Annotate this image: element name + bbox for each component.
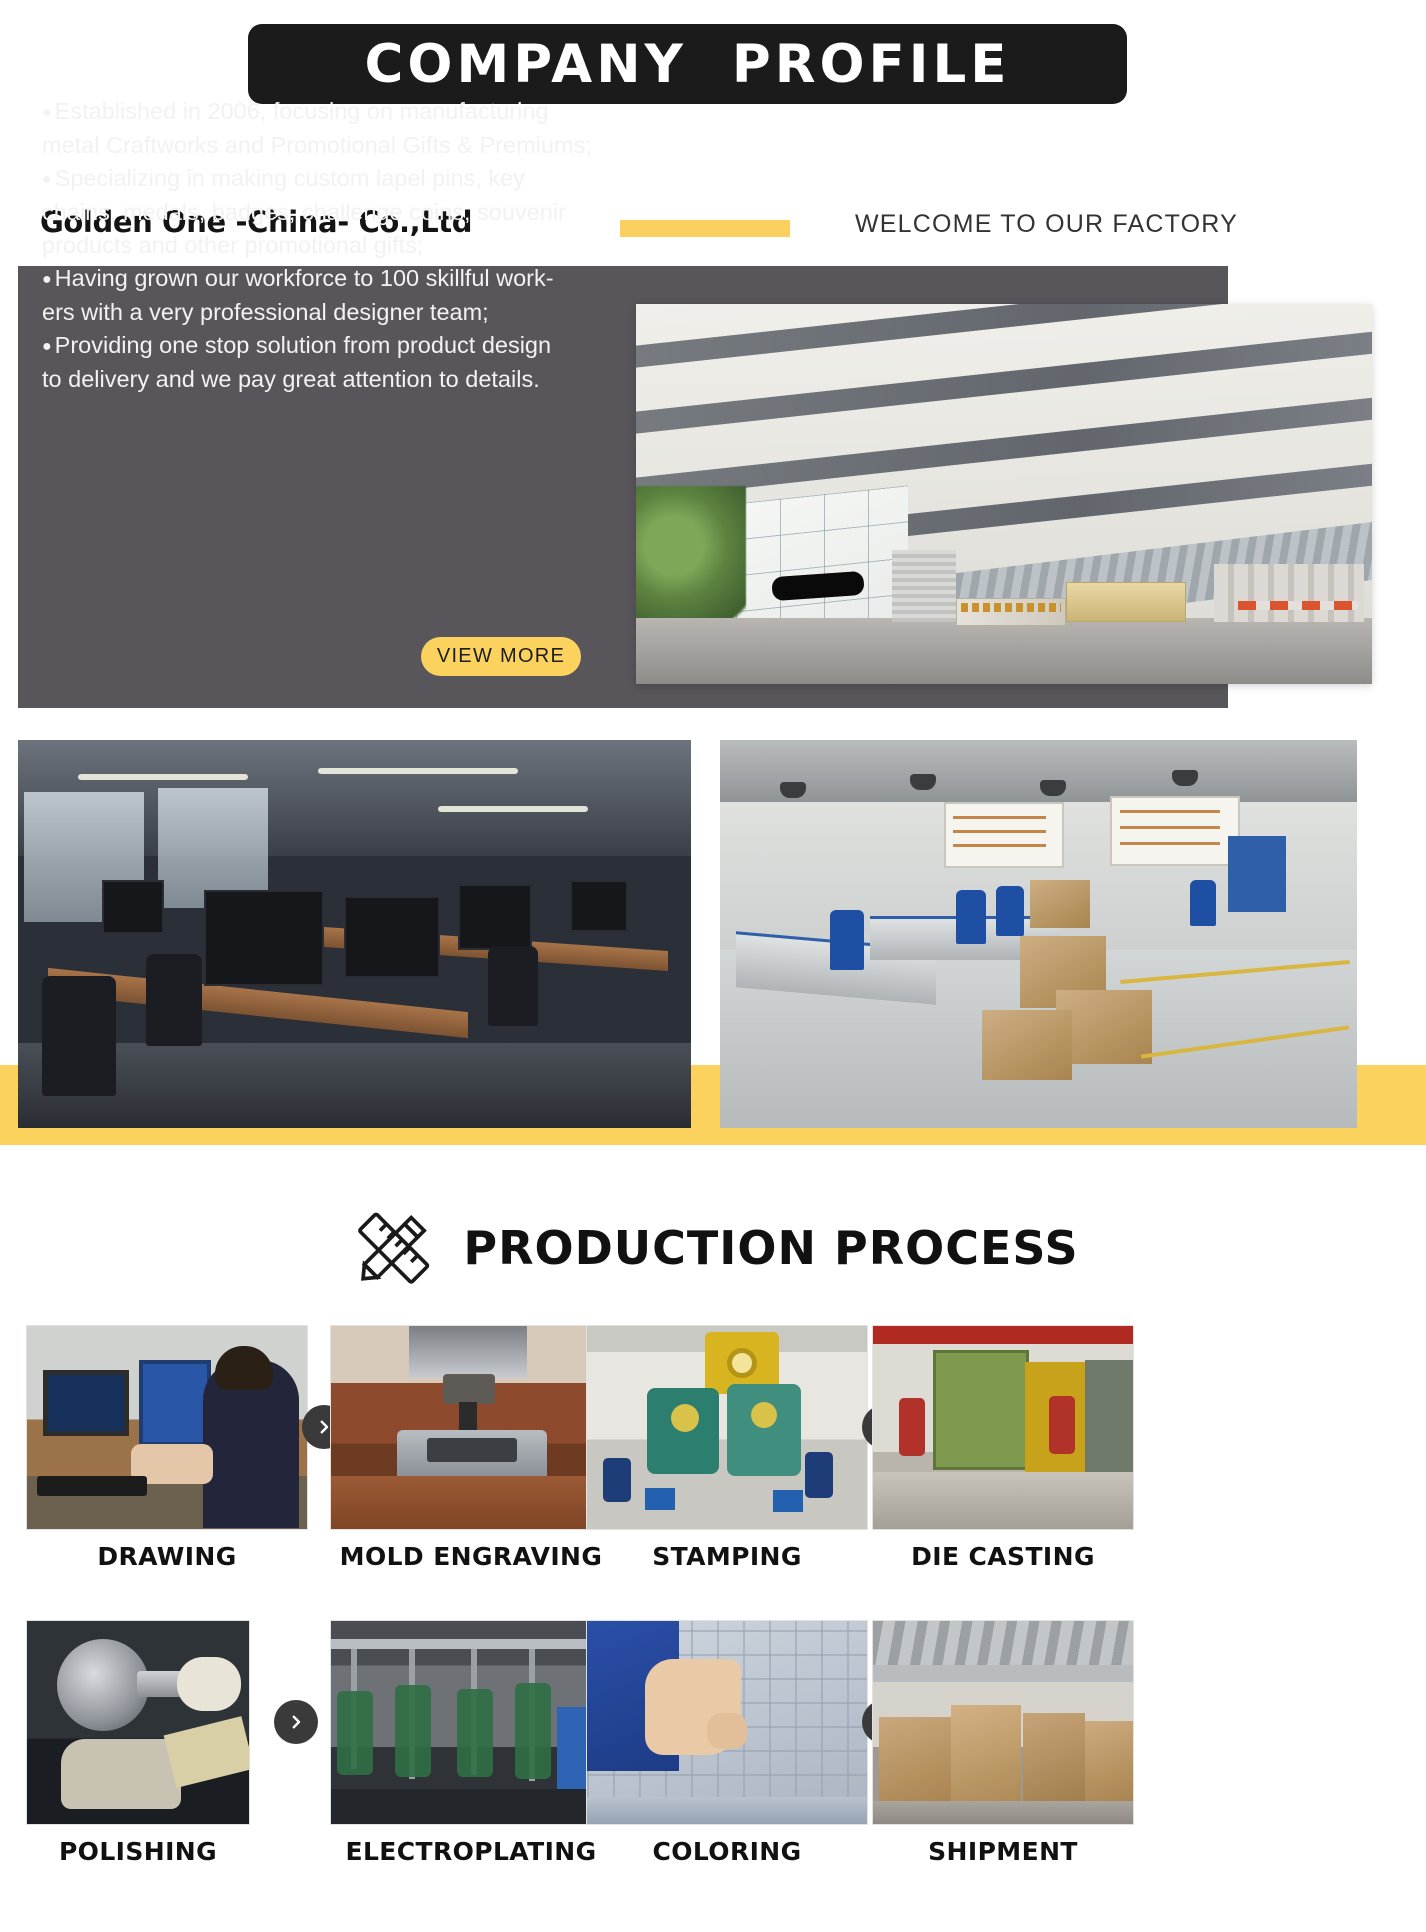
pendant-lamp — [1172, 770, 1198, 786]
door — [1228, 836, 1286, 912]
process-row-2: POLISHING ELECTROPLATING — [0, 1620, 1426, 1860]
intro-line-text: Having grown our workforce to 100 skillf… — [55, 265, 554, 291]
intro-line-text: ers with a very professional designer te… — [42, 299, 489, 325]
carton-box — [982, 1010, 1072, 1080]
adjacent-building — [1214, 564, 1364, 622]
process-step-shipment[interactable]: SHIPMENT — [872, 1620, 1134, 1866]
step-thumbnail — [586, 1325, 868, 1530]
bullet-dot-icon: ● — [42, 104, 52, 121]
step-label: SHIPMENT — [872, 1837, 1134, 1866]
step-label: DIE CASTING — [872, 1542, 1134, 1571]
worker — [956, 890, 986, 944]
floor — [18, 1043, 691, 1128]
step-thumbnail — [330, 1325, 612, 1530]
process-step-electroplating[interactable]: ELECTROPLATING — [330, 1620, 612, 1866]
pendant-lamp — [1040, 780, 1066, 796]
step-label: MOLD ENGRAVING — [330, 1542, 612, 1571]
office-chair — [42, 976, 116, 1096]
office-chair — [488, 946, 538, 1026]
process-step-drawing[interactable]: DRAWING — [26, 1325, 308, 1571]
intro-line: to delivery and we pay great attention t… — [42, 363, 642, 396]
bullet-dot-icon: ● — [42, 338, 52, 355]
monitor — [570, 880, 628, 932]
intro-line: products and other promotional gifts; — [42, 229, 642, 262]
page-title-banner: COMPANY PROFILE — [248, 24, 1127, 104]
roof-structure — [720, 740, 1357, 802]
intro-line: ers with a very professional designer te… — [42, 296, 642, 329]
worker — [996, 886, 1024, 936]
process-step-mold-engraving[interactable]: MOLD ENGRAVING — [330, 1325, 612, 1571]
view-more-button[interactable]: VIEW MORE — [421, 637, 581, 676]
bullet-dot-icon: ● — [42, 271, 52, 288]
intro-line: ●Established in 2006, focusing on manufa… — [42, 95, 642, 129]
process-step-stamping[interactable]: STAMPING — [586, 1325, 868, 1571]
company-intro-bullets: ●Established in 2006, focusing on manufa… — [42, 95, 642, 396]
office-photo — [18, 740, 691, 1128]
accent-rule — [620, 220, 790, 237]
pendant-lamp — [780, 782, 806, 798]
intro-line-text: Providing one stop solution from product… — [55, 332, 551, 358]
production-process-heading: PRODUCTION PROCESS — [0, 1208, 1426, 1288]
ceiling-light — [438, 806, 588, 812]
worker — [1190, 880, 1216, 926]
factory-building-photo — [636, 304, 1372, 684]
intro-line: ●Providing one stop solution from produc… — [42, 329, 642, 363]
step-thumbnail — [586, 1620, 868, 1825]
process-step-die-casting[interactable]: DIE CASTING — [872, 1325, 1134, 1571]
intro-line: ●Specializing in making custom lapel pin… — [42, 162, 642, 196]
ruler-pencil-icon — [347, 1212, 439, 1284]
process-row-1: DRAWING MOLD ENGRAVING — [0, 1325, 1426, 1565]
monitor — [102, 880, 164, 934]
intro-line-text: to delivery and we pay great attention t… — [42, 366, 540, 392]
ceiling-light — [78, 774, 248, 780]
welcome-text: WELCOME TO OUR FACTORY — [855, 210, 1238, 239]
office-chair — [146, 954, 202, 1046]
intro-line-text: metal Craftworks and Promotional Gifts &… — [42, 132, 592, 158]
intro-line: metal Craftworks and Promotional Gifts &… — [42, 129, 642, 162]
step-label: POLISHING — [26, 1837, 250, 1866]
intro-line-text: Specializing in making custom lapel pins… — [55, 165, 525, 191]
step-thumbnail — [26, 1620, 250, 1825]
parked-cars — [1238, 601, 1358, 610]
intro-line: ●Having grown our workforce to 100 skill… — [42, 262, 642, 296]
worker — [830, 910, 864, 970]
process-arrow-icon — [274, 1700, 318, 1744]
step-label: COLORING — [586, 1837, 868, 1866]
notice-board — [1110, 796, 1240, 866]
bullet-dot-icon: ● — [42, 171, 52, 188]
step-thumbnail — [26, 1325, 308, 1530]
section-title: PRODUCTION PROCESS — [463, 1221, 1078, 1275]
step-label: STAMPING — [586, 1542, 868, 1571]
step-label: ELECTROPLATING — [330, 1837, 612, 1866]
page-title: COMPANY PROFILE — [365, 34, 1011, 95]
monitor — [204, 890, 324, 986]
intro-line-text: Established in 2006, focusing on manufac… — [55, 98, 549, 124]
process-step-coloring[interactable]: COLORING — [586, 1620, 868, 1866]
monitor — [458, 884, 532, 950]
monitor — [344, 896, 440, 978]
ceiling-light — [318, 768, 518, 774]
company-profile-page: COMPANY PROFILE Golden One -China- Co.,L… — [0, 0, 1426, 1932]
step-thumbnail — [872, 1325, 1134, 1530]
step-thumbnail — [330, 1620, 612, 1825]
ground — [636, 618, 1372, 684]
carton-box — [1030, 880, 1090, 928]
intro-line: chains, medals, badges, challenge coins,… — [42, 196, 642, 229]
workshop-photo — [720, 740, 1357, 1128]
step-label: DRAWING — [26, 1542, 308, 1571]
step-thumbnail — [872, 1620, 1134, 1825]
company-signboard — [956, 598, 1066, 626]
intro-line-text: products and other promotional gifts; — [42, 232, 423, 258]
loading-truck — [1066, 582, 1186, 622]
pendant-lamp — [910, 774, 936, 790]
intro-line-text: chains, medals, badges, challenge coins,… — [42, 199, 566, 225]
notice-board — [944, 802, 1064, 868]
process-step-polishing[interactable]: POLISHING — [26, 1620, 250, 1866]
roller-shutter — [892, 550, 956, 622]
